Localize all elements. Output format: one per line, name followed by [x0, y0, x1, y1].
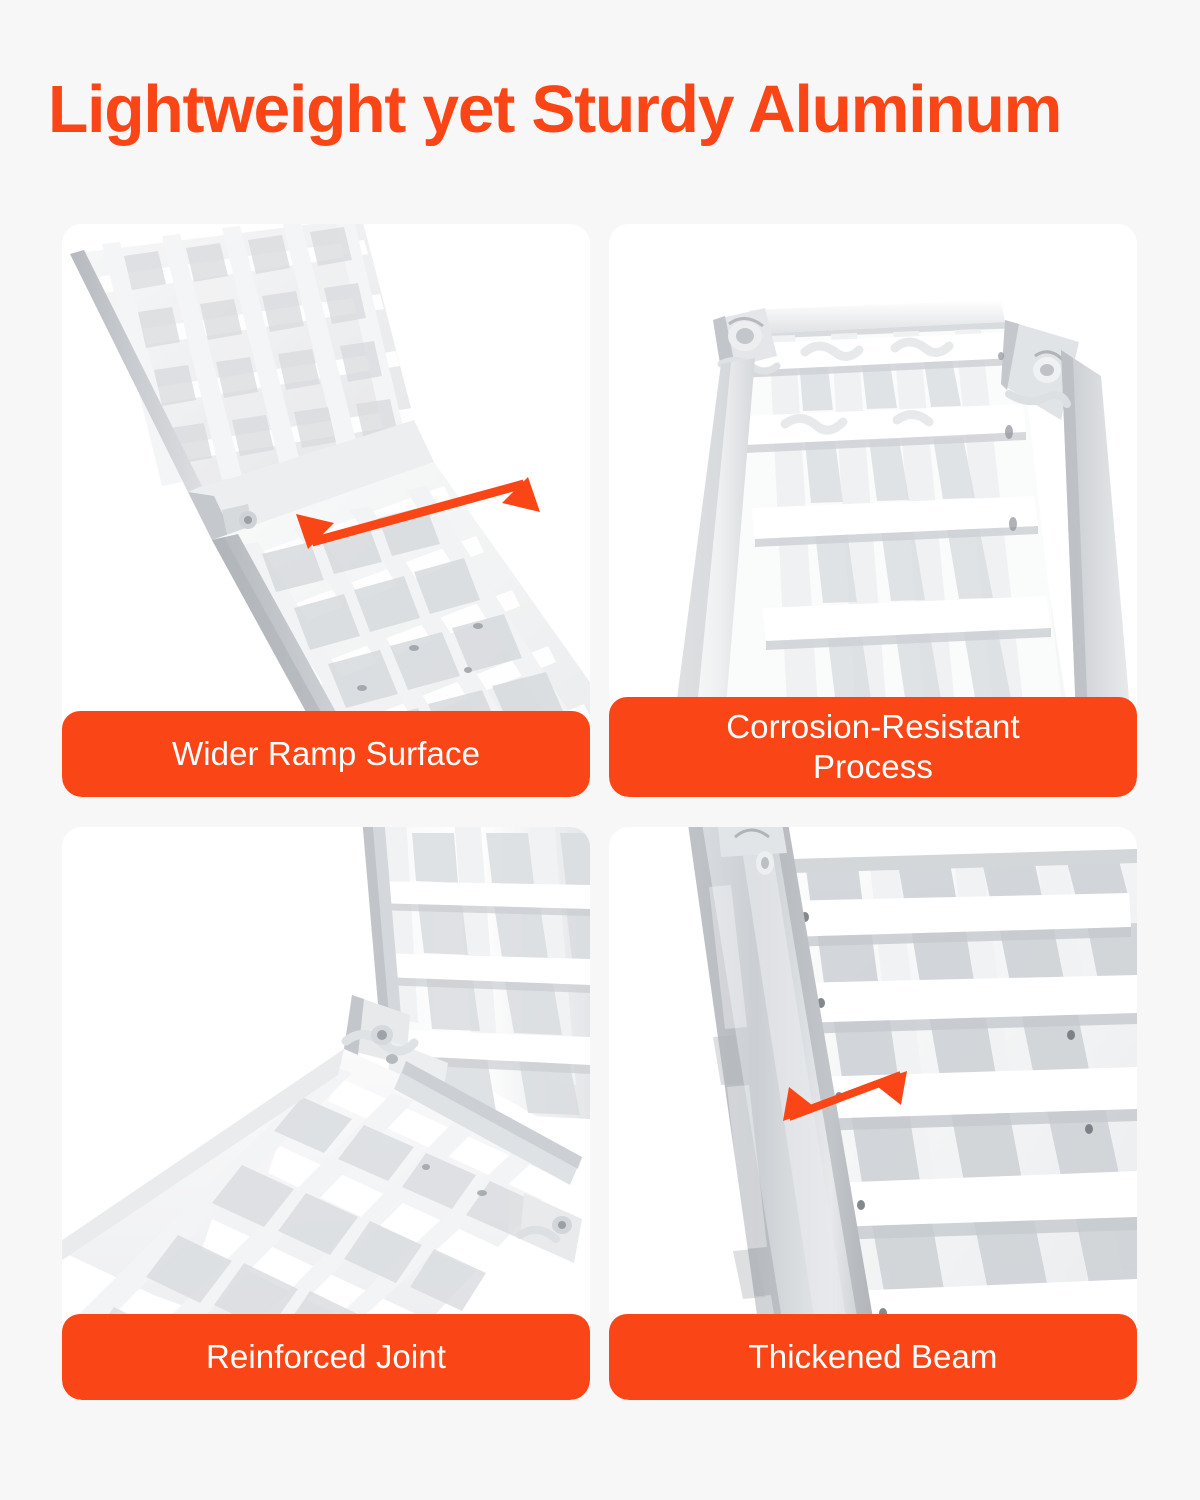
feature-label-text: Corrosion-Resistant Process [726, 707, 1020, 787]
feature-card-wider-ramp-surface[interactable]: Wider Ramp Surface [62, 224, 590, 797]
feature-label-text: Wider Ramp Surface [172, 734, 480, 774]
feature-label-bar-thickened-beam: Thickened Beam [609, 1314, 1137, 1400]
feature-label-text: Reinforced Joint [206, 1337, 446, 1377]
feature-label-bar-corrosion-resistant-process: Corrosion-Resistant Process [609, 697, 1137, 797]
feature-card-reinforced-joint[interactable]: Reinforced Joint [62, 827, 590, 1400]
feature-label-line-1: Corrosion-Resistant [726, 708, 1020, 745]
feature-label-line-2: Process [813, 748, 933, 785]
feature-label-bar-wider-ramp-surface: Wider Ramp Surface [62, 711, 590, 797]
feature-label-text: Thickened Beam [748, 1337, 997, 1377]
feature-label-bar-reinforced-joint: Reinforced Joint [62, 1314, 590, 1400]
feature-card-corrosion-resistant-process[interactable]: Corrosion-Resistant Process [609, 224, 1137, 797]
product-feature-infographic: Lightweight yet Sturdy Aluminum [0, 0, 1200, 1500]
page-title: Lightweight yet Sturdy Aluminum [48, 74, 1141, 146]
feature-card-grid: Wider Ramp Surface [62, 224, 1137, 1400]
feature-card-thickened-beam[interactable]: Thickened Beam [609, 827, 1137, 1400]
